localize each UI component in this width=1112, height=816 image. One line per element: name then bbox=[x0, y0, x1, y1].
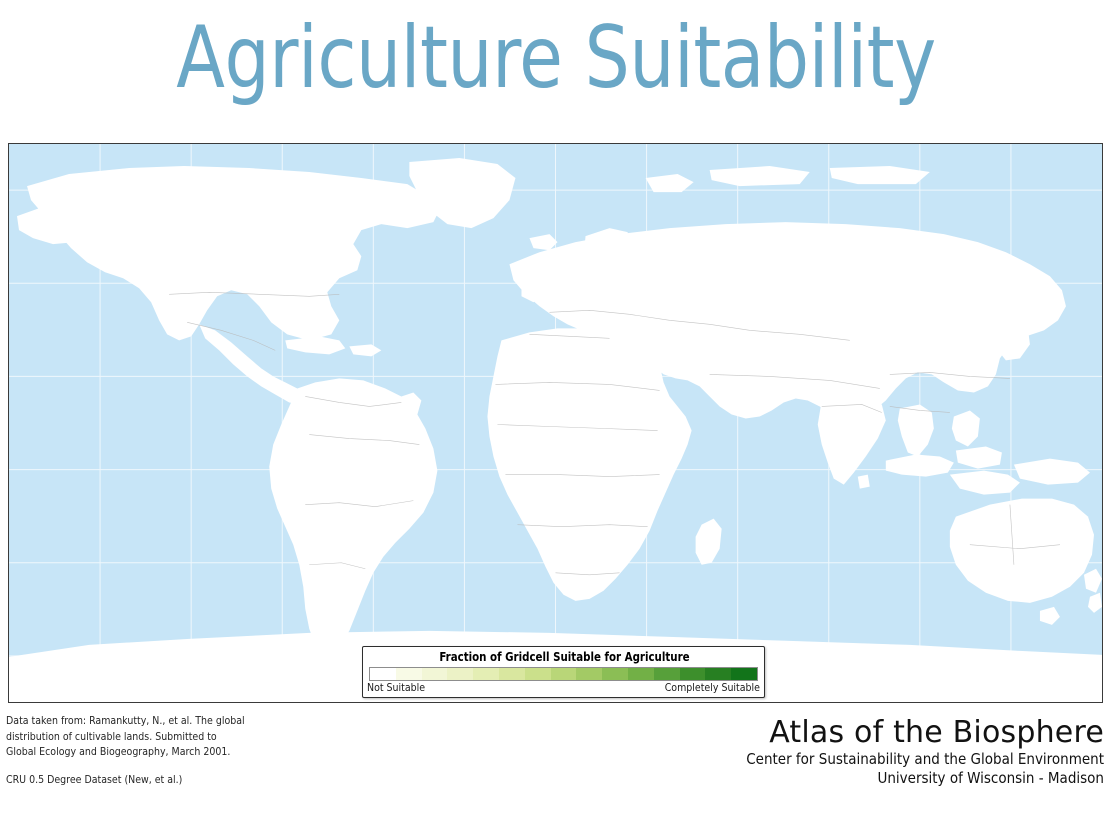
legend-min-label: Not Suitable bbox=[367, 682, 425, 694]
map-legend: Fraction of Gridcell Suitable for Agricu… bbox=[362, 646, 765, 698]
legend-swatch-3 bbox=[447, 668, 473, 680]
legend-swatch-1 bbox=[396, 668, 422, 680]
legend-swatch-6 bbox=[525, 668, 551, 680]
citation-line-3: Global Ecology and Biogeography, March 2… bbox=[6, 745, 426, 761]
map-canvas bbox=[9, 144, 1102, 702]
legend-swatch-13 bbox=[705, 668, 731, 680]
legend-swatch-0 bbox=[370, 668, 396, 680]
citation-spacer bbox=[6, 761, 426, 773]
legend-swatch-10 bbox=[628, 668, 654, 680]
legend-swatch-11 bbox=[654, 668, 680, 680]
legend-swatch-9 bbox=[602, 668, 628, 680]
world-suitability-map bbox=[9, 144, 1102, 702]
legend-swatch-2 bbox=[422, 668, 448, 680]
legend-swatch-14 bbox=[731, 668, 757, 680]
citation-line-4: CRU 0.5 Degree Dataset (New, et al.) bbox=[6, 773, 426, 789]
atlas-name: Atlas of the Biosphere bbox=[746, 716, 1104, 750]
map-frame bbox=[8, 143, 1103, 703]
attribution-block: Atlas of the Biosphere Center for Sustai… bbox=[746, 716, 1104, 788]
legend-swatch-4 bbox=[473, 668, 499, 680]
legend-title: Fraction of Gridcell Suitable for Agricu… bbox=[373, 650, 756, 664]
atlas-university: University of Wisconsin - Madison bbox=[746, 769, 1104, 788]
legend-color-ramp bbox=[369, 667, 758, 681]
legend-swatch-12 bbox=[680, 668, 706, 680]
legend-swatch-7 bbox=[551, 668, 577, 680]
legend-max-label: Completely Suitable bbox=[665, 682, 760, 694]
page-title: Agriculture Suitability bbox=[44, 2, 1067, 114]
citation-line-2: distribution of cultivable lands. Submit… bbox=[6, 730, 426, 746]
legend-swatch-8 bbox=[576, 668, 602, 680]
atlas-center-name: Center for Sustainability and the Global… bbox=[746, 750, 1104, 769]
legend-swatch-5 bbox=[499, 668, 525, 680]
citation-line-1: Data taken from: Ramankutty, N., et al. … bbox=[6, 714, 426, 730]
data-citation: Data taken from: Ramankutty, N., et al. … bbox=[6, 714, 426, 788]
